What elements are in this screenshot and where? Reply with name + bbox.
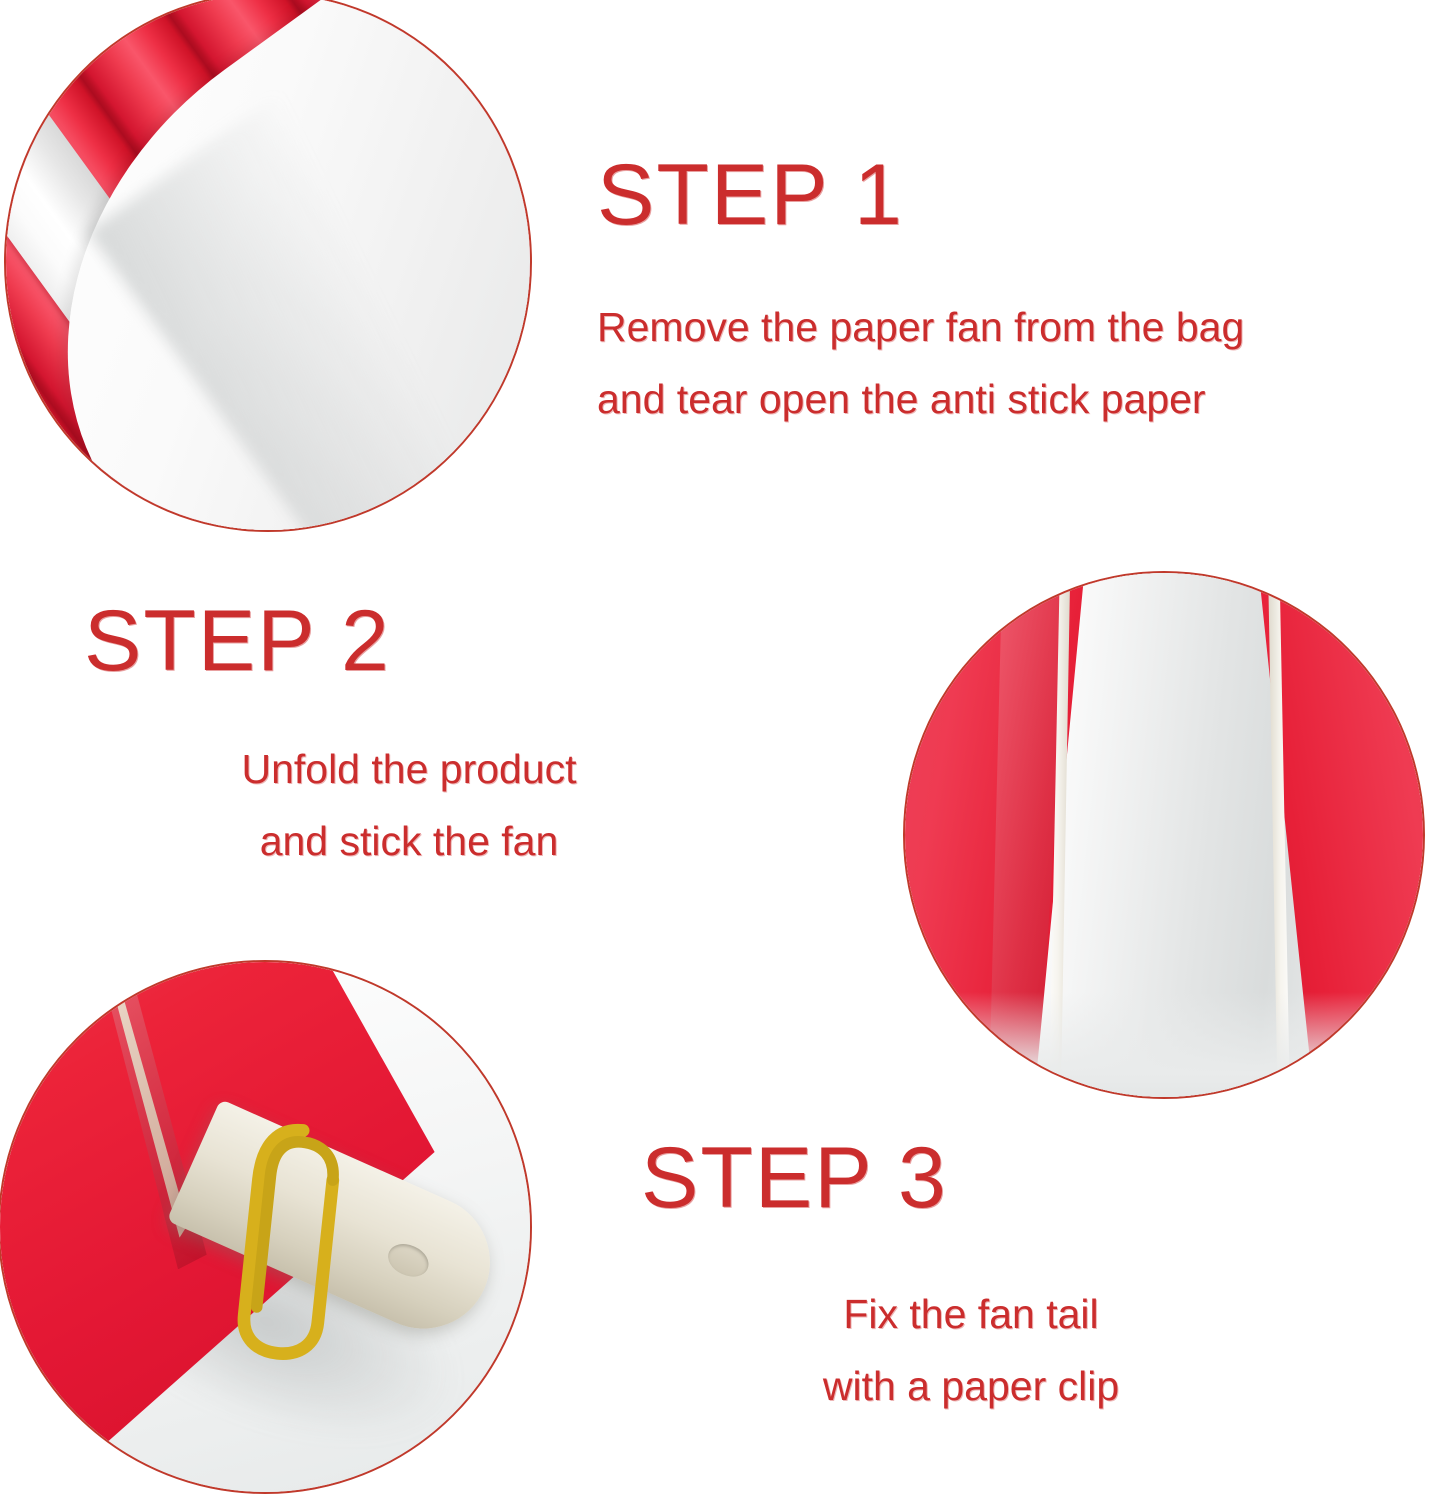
step-1-photo xyxy=(4,0,532,532)
step-1-title: STEP 1 xyxy=(597,152,1244,238)
instruction-sheet: STEP 1 Remove the paper fan from the bag… xyxy=(0,0,1439,1500)
step-3-text-block: STEP 3 Fix the fan tail with a paper cli… xyxy=(641,1135,1301,1423)
step-3-photo-inner xyxy=(0,962,530,1492)
step-1-line-1: Remove the paper fan from the bag xyxy=(597,292,1244,364)
step-3-photo xyxy=(0,960,532,1494)
step-1-photo-inner xyxy=(6,0,530,530)
handle-hole xyxy=(383,1238,433,1283)
table-surface xyxy=(905,992,1423,1097)
step-2-line-1: Unfold the product xyxy=(84,734,734,806)
step-2-text-block: STEP 2 Unfold the product and stick the … xyxy=(84,598,734,878)
step-2-title: STEP 2 xyxy=(84,598,734,684)
step-2-line-2: and stick the fan xyxy=(84,806,734,878)
step-2-photo xyxy=(903,571,1425,1099)
step-1-text-block: STEP 1 Remove the paper fan from the bag… xyxy=(597,152,1244,436)
step-3-line-2: with a paper clip xyxy=(641,1351,1301,1423)
step-3-line-1: Fix the fan tail xyxy=(641,1279,1301,1351)
step-3-title: STEP 3 xyxy=(641,1135,1301,1221)
step-1-line-2: and tear open the anti stick paper xyxy=(597,364,1244,436)
step-2-photo-inner xyxy=(905,573,1423,1097)
